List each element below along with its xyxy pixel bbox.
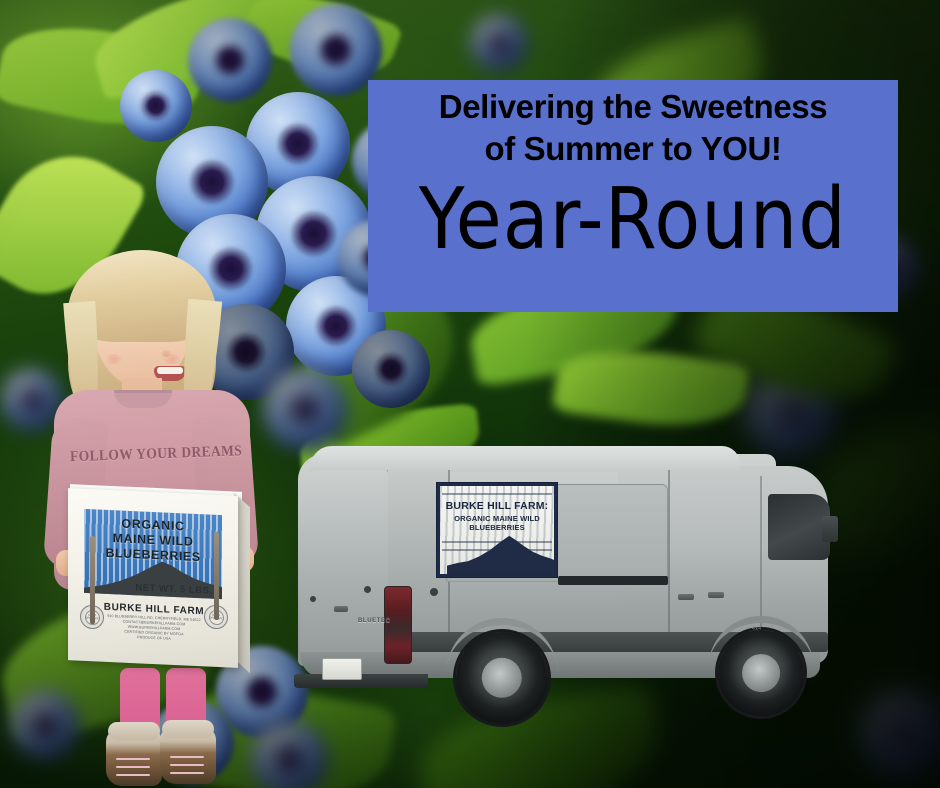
boot-right: [160, 726, 216, 784]
van-front-wheel: [718, 630, 804, 716]
boot-lace: [170, 764, 204, 766]
boot-cuff: [162, 720, 214, 738]
van-rivet: [310, 596, 316, 602]
boot-lace: [116, 774, 150, 776]
delivery-van: BLUETEC 4x4 BURKE HILL FARM: ORGANIC MAI…: [288, 436, 850, 736]
poster-canvas: BLUETEC 4x4 BURKE HILL FARM: ORGANIC MAI…: [0, 0, 940, 788]
van-side-mirror: [822, 516, 838, 542]
sign-text-block: BURKE HILL FARM: ORGANIC MAINE WILD BLUE…: [437, 500, 557, 532]
box-strap-right: [214, 532, 219, 620]
van-front-badge: 4x4: [752, 626, 762, 632]
van-rear-wheel: [456, 632, 548, 724]
van-license-plate: [322, 658, 362, 680]
sign-line-blueberries: BLUEBERRIES: [437, 523, 557, 532]
box-strap-left: [90, 536, 95, 624]
headline-panel: Delivering the Sweetness of Summer to YO…: [368, 80, 898, 312]
van-rivet: [364, 586, 371, 593]
wheel-hub: [742, 654, 780, 692]
cheek-left: [106, 354, 122, 364]
sweatshirt-collar: [114, 390, 172, 408]
van-rear-door-handle: [334, 606, 348, 612]
sign-streak: [442, 493, 552, 495]
van-window-slot: [558, 576, 668, 585]
van-cab-window: [768, 494, 830, 560]
headline-script-year-round: Year-Round: [419, 176, 847, 261]
headline-line-1: Delivering the Sweetness: [439, 86, 827, 128]
van-door-handle: [708, 592, 724, 598]
boot-lace: [170, 756, 204, 758]
van-rear-door-left: [300, 470, 390, 654]
van-panel-seam: [668, 470, 670, 656]
sign-streak: [442, 541, 552, 543]
teeth: [157, 367, 183, 374]
van-rear-badge: BLUETEC: [358, 618, 391, 624]
wheel-hub: [482, 658, 522, 698]
blueberry-product-box: ORGANIC MAINE WILD BLUEBERRIES NET WT. 5…: [62, 492, 254, 688]
cheek-right: [164, 354, 180, 364]
boot-lace: [116, 758, 150, 760]
sign-line-farm-name: BURKE HILL FARM:: [437, 500, 557, 512]
boot-cuff: [108, 722, 160, 740]
headline-line-2: of Summer to YOU!: [485, 128, 782, 170]
van-farm-sign: BURKE HILL FARM: ORGANIC MAINE WILD BLUE…: [436, 482, 558, 578]
van-rivet: [430, 588, 438, 596]
boot-lace: [170, 772, 204, 774]
boot-lace: [116, 766, 150, 768]
van-taillight: [384, 586, 412, 664]
van-door-handle: [678, 594, 694, 600]
boot-left: [106, 728, 162, 786]
van-roof: [310, 446, 740, 472]
sign-line-organic: ORGANIC MAINE WILD: [437, 514, 557, 523]
